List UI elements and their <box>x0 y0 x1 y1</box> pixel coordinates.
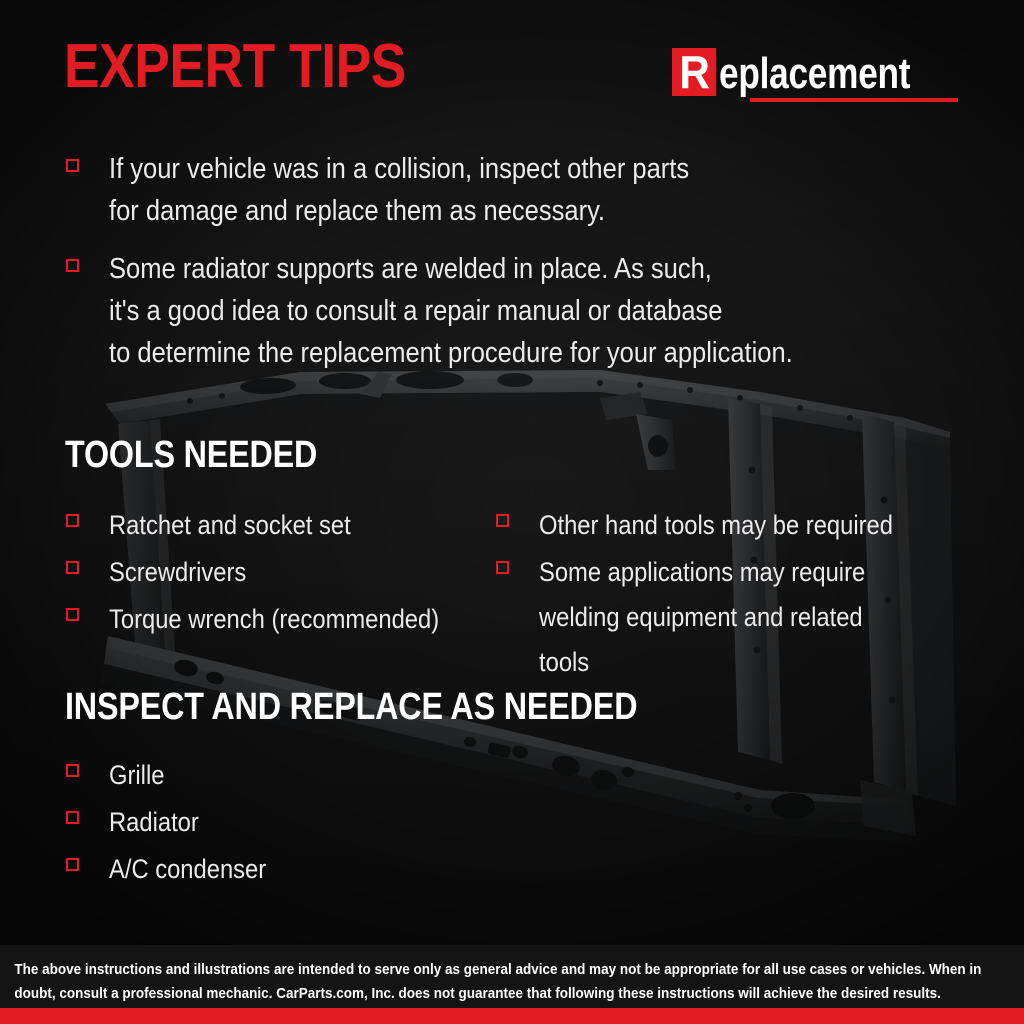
list-item: Ratchet and socket set <box>66 503 496 548</box>
tool-text: Torque wrench (recommended) <box>109 597 439 642</box>
tool-text: Screwdrivers <box>109 550 246 595</box>
tools-needed-list: Ratchet and socket set Screwdrivers Torq… <box>66 503 986 687</box>
disclaimer-text: The above instructions and illustrations… <box>0 945 1017 1006</box>
footer-disclaimer-band: The above instructions and illustrations… <box>0 945 1024 1008</box>
tools-left-column: Ratchet and socket set Screwdrivers Torq… <box>66 503 496 687</box>
replacement-logo: R eplacement <box>672 48 958 102</box>
expert-tips-list: If your vehicle was in a collision, insp… <box>66 148 966 390</box>
tools-needed-heading: TOOLS NEEDED <box>65 436 317 474</box>
tool-text: Other hand tools may be required <box>539 503 893 548</box>
square-bullet-icon <box>66 159 79 172</box>
list-item: Torque wrench (recommended) <box>66 597 496 642</box>
inspect-text: Grille <box>109 753 164 798</box>
bottom-red-bar <box>0 1008 1024 1024</box>
square-bullet-icon <box>66 561 79 574</box>
tool-text: Some applications may require welding eq… <box>539 550 915 685</box>
tip-text: Some radiator supports are welded in pla… <box>109 248 793 374</box>
square-bullet-icon <box>66 608 79 621</box>
tools-right-column: Other hand tools may be required Some ap… <box>496 503 966 687</box>
tool-text: Ratchet and socket set <box>109 503 351 548</box>
list-item: If your vehicle was in a collision, insp… <box>66 148 966 232</box>
logo-wordmark: eplacement <box>719 52 910 96</box>
inspect-text: Radiator <box>109 800 199 845</box>
tip-text: If your vehicle was in a collision, insp… <box>109 148 689 232</box>
logo-underline <box>750 98 958 102</box>
list-item: Screwdrivers <box>66 550 496 595</box>
page-title: EXPERT TIPS <box>64 36 406 98</box>
list-item: Radiator <box>66 800 566 845</box>
square-bullet-icon <box>66 811 79 824</box>
list-item: Other hand tools may be required <box>496 503 966 548</box>
logo-badge-letter: R <box>672 48 716 96</box>
expert-tips-card: EXPERT TIPS R eplacement If your vehicle… <box>0 0 1024 1024</box>
list-item: Some radiator supports are welded in pla… <box>66 248 966 374</box>
list-item: A/C condenser <box>66 847 566 892</box>
inspect-replace-list: Grille Radiator A/C condenser <box>66 753 566 894</box>
square-bullet-icon <box>66 858 79 871</box>
square-bullet-icon <box>66 259 79 272</box>
inspect-replace-heading: INSPECT AND REPLACE AS NEEDED <box>65 688 637 726</box>
list-item: Grille <box>66 753 566 798</box>
square-bullet-icon <box>66 764 79 777</box>
inspect-text: A/C condenser <box>109 847 266 892</box>
list-item: Some applications may require welding eq… <box>496 550 966 685</box>
square-bullet-icon <box>496 561 509 574</box>
square-bullet-icon <box>66 514 79 527</box>
square-bullet-icon <box>496 514 509 527</box>
